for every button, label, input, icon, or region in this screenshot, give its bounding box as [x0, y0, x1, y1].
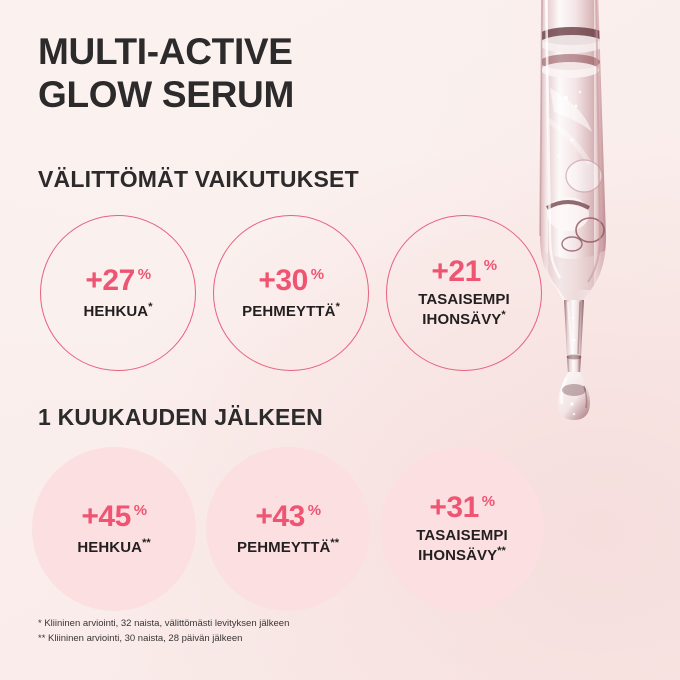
stat-caption-text: HEHKUA — [83, 303, 148, 320]
footnote-marker: ** — [142, 537, 151, 549]
stat-caption-text: PEHMEYTTÄ — [242, 303, 335, 320]
stat-caption: PEHMEYTTÄ** — [237, 537, 339, 557]
footnote-marker: * — [501, 309, 505, 321]
page-title: MULTI-ACTIVE GLOW SERUM — [38, 30, 518, 117]
stat-circle-immediate-1: +27 % HEHKUA* — [40, 215, 196, 371]
footnote-marker: ** — [497, 545, 506, 557]
stat-value: +43 % — [255, 502, 320, 532]
percent-symbol: % — [482, 494, 495, 509]
stat-caption-text: HEHKUA — [77, 539, 142, 556]
section-heading-one-month: 1 KUUKAUDEN JÄLKEEN — [38, 404, 323, 431]
stat-caption: TASAISEMPI IHONSÄVY* — [418, 292, 510, 329]
stat-number: +27 — [85, 266, 134, 296]
stat-caption: PEHMEYTTÄ* — [242, 301, 340, 321]
footnote-marker: * — [148, 301, 152, 313]
stat-circle-immediate-3: +21 % TASAISEMPI IHONSÄVY* — [386, 215, 542, 371]
stat-value: +31 % — [429, 493, 494, 523]
stat-number: +45 — [81, 502, 130, 532]
section-heading-immediate: VÄLITTÖMÄT VAIKUTUKSET — [38, 166, 359, 193]
stat-number: +43 — [255, 502, 304, 532]
stat-number: +21 — [431, 257, 480, 287]
stat-number: +30 — [258, 266, 307, 296]
footnote-double-star: ** Kliininen arviointi, 30 naista, 28 pä… — [38, 632, 289, 647]
percent-symbol: % — [484, 258, 497, 273]
stat-caption-text: TASAISEMPI IHONSÄVY — [418, 291, 510, 328]
footnote-single-star: * Kliininen arviointi, 32 naista, välitt… — [38, 617, 289, 632]
stat-circle-month-2: +43 % PEHMEYTTÄ** — [206, 447, 370, 611]
footnotes: * Kliininen arviointi, 32 naista, välitt… — [38, 617, 289, 646]
infographic-canvas: MULTI-ACTIVE GLOW SERUM VÄLITTÖMÄT VAIKU… — [0, 0, 680, 680]
stat-number: +31 — [429, 493, 478, 523]
percent-symbol: % — [308, 503, 321, 518]
percent-symbol: % — [138, 267, 151, 282]
stat-caption-text: TASAISEMPI IHONSÄVY — [416, 527, 508, 564]
stat-value: +30 % — [258, 266, 323, 296]
stat-caption-text: PEHMEYTTÄ — [237, 539, 330, 556]
stat-value: +27 % — [85, 266, 150, 296]
stat-value: +21 % — [431, 257, 496, 287]
stat-circle-month-1: +45 % HEHKUA** — [32, 447, 196, 611]
percent-symbol: % — [134, 503, 147, 518]
stat-circle-immediate-2: +30 % PEHMEYTTÄ* — [213, 215, 369, 371]
footnote-marker: ** — [330, 537, 339, 549]
stat-caption: TASAISEMPI IHONSÄVY** — [416, 528, 508, 565]
stat-caption: HEHKUA* — [83, 301, 152, 321]
percent-symbol: % — [311, 267, 324, 282]
stat-value: +45 % — [81, 502, 146, 532]
stat-caption: HEHKUA** — [77, 537, 150, 557]
footnote-marker: * — [336, 301, 340, 313]
stat-circle-month-3: +31 % TASAISEMPI IHONSÄVY** — [380, 447, 544, 611]
